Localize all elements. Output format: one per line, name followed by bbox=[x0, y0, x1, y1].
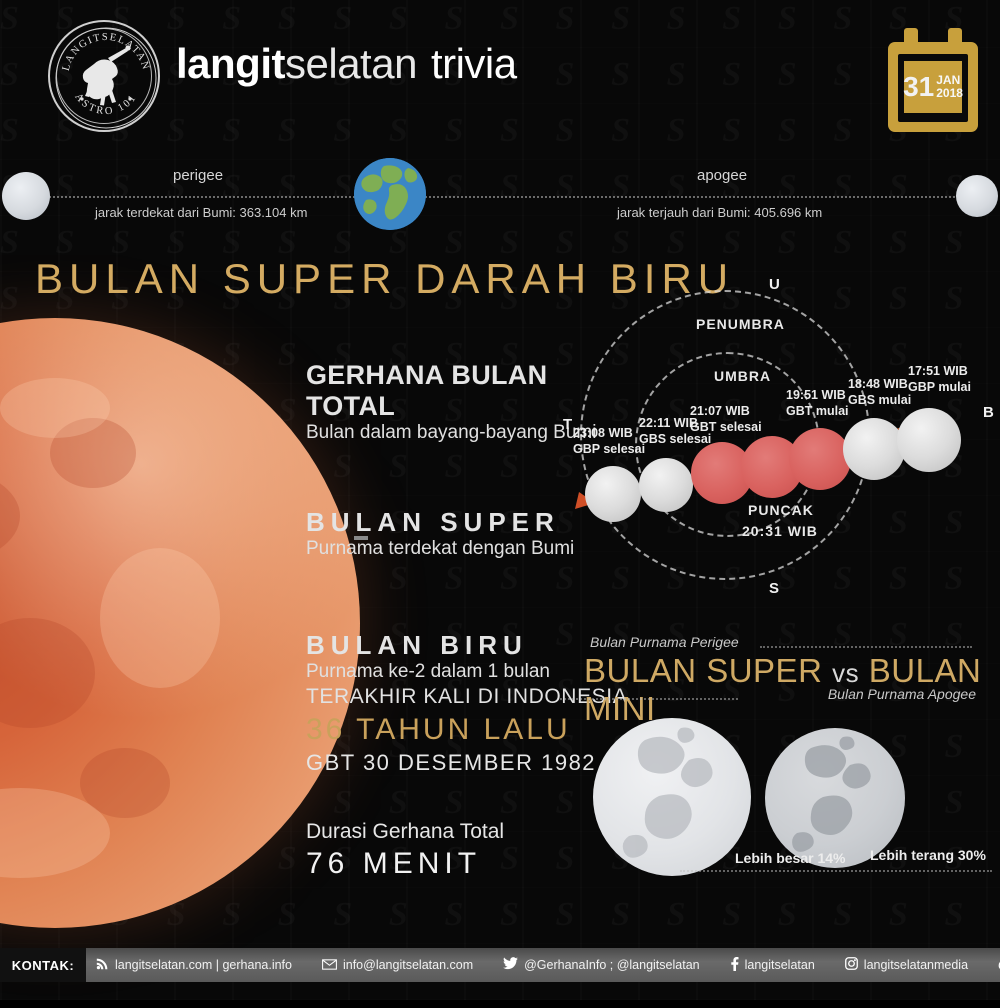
umbra-label: UMBRA bbox=[714, 368, 771, 384]
moon-icon-perigee bbox=[2, 172, 50, 220]
calendar-day: 31 bbox=[903, 73, 934, 101]
earth-globe-icon bbox=[354, 158, 426, 230]
phase-time: 19:51 WIB bbox=[786, 388, 849, 404]
phase-event: GBT selesai bbox=[690, 420, 762, 436]
apogee-distance: jarak terjauh dari Bumi: 405.696 km bbox=[617, 205, 822, 220]
phase-label-2107: 21:07 WIB GBT selesai bbox=[690, 404, 762, 435]
perigee-apogee-band: perigee jarak terdekat dari Bumi: 363.10… bbox=[0, 150, 1000, 245]
phase-moon-1848 bbox=[843, 418, 905, 480]
twitter-icon bbox=[503, 957, 518, 973]
phase-moon-1951 bbox=[789, 428, 851, 490]
footer-item-website[interactable]: langitselatan.com | gerhana.info bbox=[96, 957, 292, 973]
moon-crater bbox=[0, 618, 95, 728]
phase-label-1751: 17:51 WIB GBP mulai bbox=[908, 364, 971, 395]
moon-highlight bbox=[0, 378, 110, 438]
axis-label-east: B bbox=[983, 404, 994, 421]
phase-time: 18:48 WIB bbox=[848, 377, 911, 393]
perigee-label: perigee bbox=[173, 167, 223, 184]
brand-title: langitselatantrivia bbox=[176, 40, 517, 88]
axis-label-west: T bbox=[563, 416, 572, 433]
footer-item-twitter[interactable]: @GerhanaInfo ; @langitselatan bbox=[503, 957, 699, 973]
phase-time: 23:08 WIB bbox=[573, 426, 645, 442]
eclipse-path-diagram: U S T B PENUMBRA UMBRA PUNCAK 20:31 WIB … bbox=[545, 270, 1000, 610]
compare-title-vs: vs bbox=[832, 658, 859, 688]
compare-dotline-bottom bbox=[560, 698, 738, 700]
apogee-label: apogee bbox=[697, 167, 747, 184]
calendar-month-year: JAN 2018 bbox=[936, 74, 963, 99]
phase-event: GBT mulai bbox=[786, 404, 849, 420]
caption-brighter: Lebih terang 30% bbox=[870, 847, 986, 863]
brand-part-3: trivia bbox=[431, 40, 517, 87]
langitselatan-logo: LANGITSELATAN ASTRO 101 bbox=[48, 20, 160, 132]
phase-event: GBP mulai bbox=[908, 380, 971, 396]
peak-time: 20:31 WIB bbox=[742, 523, 818, 539]
brand-part-2: selatan bbox=[285, 40, 417, 87]
phase-time: 21:07 WIB bbox=[690, 404, 762, 420]
axis-label-south: S bbox=[769, 580, 779, 597]
phase-moon-2211 bbox=[639, 458, 693, 512]
phase-moon-1751 bbox=[897, 408, 961, 472]
caption-bigger: Lebih besar 14% bbox=[735, 850, 846, 866]
duration-value: 76 MENIT bbox=[306, 847, 481, 881]
axis-label-north: U bbox=[769, 276, 780, 293]
footer-item-text: info@langitselatan.com bbox=[343, 958, 473, 972]
moon-icon-apogee bbox=[956, 175, 998, 217]
rss-icon bbox=[96, 957, 109, 973]
orbit-dotted-line bbox=[26, 196, 974, 198]
footer-item-text: langitselatan bbox=[745, 958, 815, 972]
calendar-screen: 31 JAN 2018 bbox=[898, 54, 968, 122]
facebook-icon bbox=[730, 957, 739, 974]
calendar-body: 31 JAN 2018 bbox=[888, 42, 978, 132]
footer-contact-bar: KONTAK: langitselatan.com | gerhana.info… bbox=[0, 948, 1000, 982]
compare-top-label: Bulan Purnama Perigee bbox=[590, 634, 739, 650]
compare-title-left: BULAN SUPER bbox=[584, 652, 822, 689]
calendar-year: 2018 bbox=[936, 87, 963, 100]
phase-label-1848: 18:48 WIB GBS mulai bbox=[848, 377, 911, 408]
phase-label-2308: 23:08 WIB GBP selesai bbox=[573, 426, 645, 457]
footer-item-facebook[interactable]: langitselatan bbox=[730, 957, 815, 974]
header: LANGITSELATAN ASTRO 101 langitselatantri… bbox=[0, 0, 1000, 150]
phase-label-1951: 19:51 WIB GBT mulai bbox=[786, 388, 849, 419]
logo-artwork: LANGITSELATAN ASTRO 101 bbox=[50, 22, 162, 134]
sagittarius-centaur-icon bbox=[83, 45, 131, 105]
duration-label: Durasi Gerhana Total bbox=[306, 820, 504, 844]
footer-item-text: @GerhanaInfo ; @langitselatan bbox=[524, 958, 699, 972]
calendar-icon: 31 JAN 2018 bbox=[888, 28, 978, 132]
super-vs-mini-section: Bulan Purnama Perigee BULAN SUPER vs BUL… bbox=[560, 634, 1000, 899]
penumbra-label: PENUMBRA bbox=[696, 316, 785, 332]
footer-item-instagram[interactable]: langitselatanmedia bbox=[845, 957, 968, 973]
footer-item-text: langitselatanmedia bbox=[864, 958, 968, 972]
compare-bottom-label: Bulan Purnama Apogee bbox=[828, 686, 976, 702]
envelope-icon bbox=[322, 958, 337, 973]
calendar-date-plate: 31 JAN 2018 bbox=[904, 61, 962, 113]
phase-event: GBS mulai bbox=[848, 393, 911, 409]
footer-items: langitselatan.com | gerhana.info info@la… bbox=[96, 948, 1000, 982]
footer-item-text: langitselatan.com | gerhana.info bbox=[115, 958, 292, 972]
footer-kontak-block: KONTAK: bbox=[0, 948, 86, 982]
phase-event: GBP selesai bbox=[573, 442, 645, 458]
kontak-label: KONTAK: bbox=[12, 958, 74, 973]
phase-time: 17:51 WIB bbox=[908, 364, 971, 380]
divider-dash bbox=[354, 536, 368, 540]
perigee-distance: jarak terdekat dari Bumi: 363.104 km bbox=[95, 205, 307, 220]
peak-label: PUNCAK bbox=[748, 502, 814, 518]
super-moon-icon bbox=[593, 718, 751, 876]
phase-moon-2308 bbox=[585, 466, 641, 522]
moon-crater bbox=[0, 468, 20, 564]
moon-highlight bbox=[100, 548, 220, 688]
instagram-icon bbox=[845, 957, 858, 973]
compare-caption-dotline bbox=[680, 870, 992, 872]
compare-dotline-top bbox=[760, 646, 972, 648]
brand-part-1: langit bbox=[176, 40, 285, 87]
footer-item-email[interactable]: info@langitselatan.com bbox=[322, 958, 473, 973]
